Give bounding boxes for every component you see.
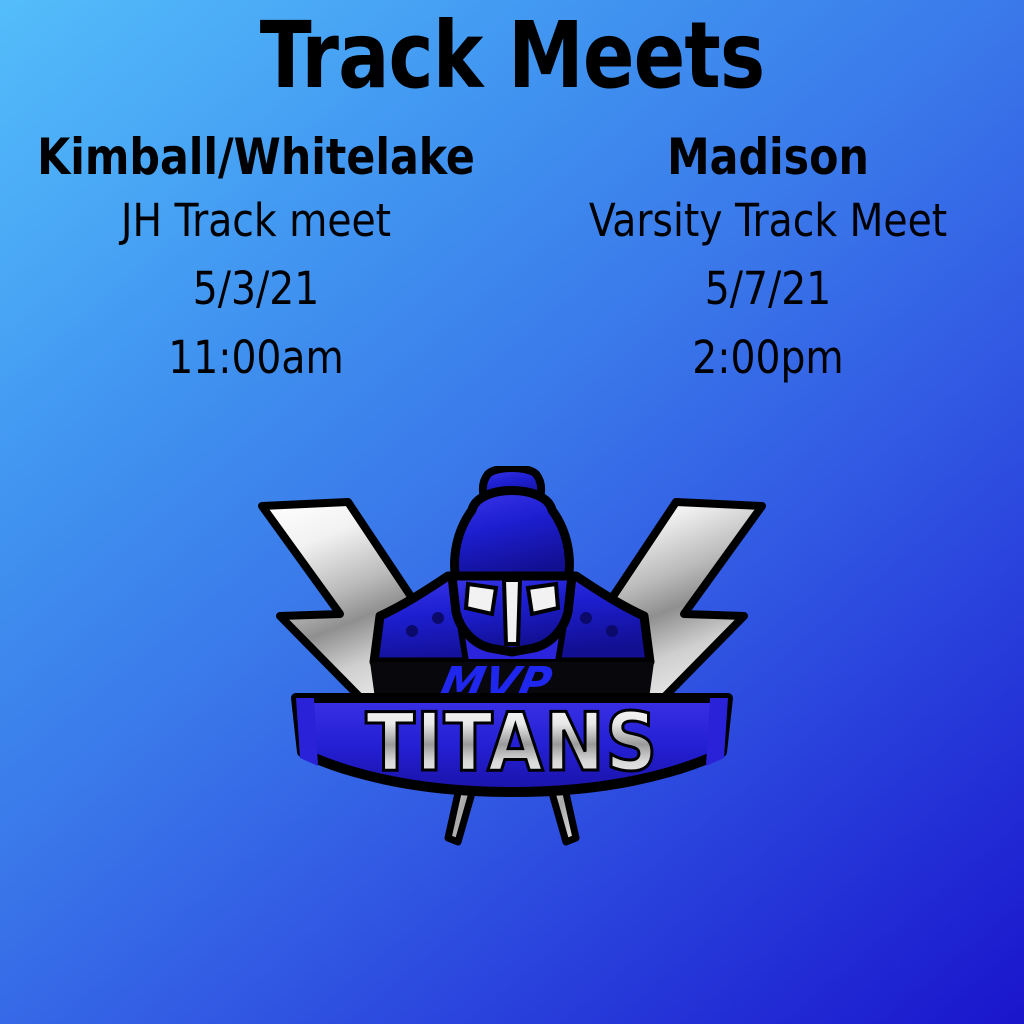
meet-column-madison: Madison Varsity Track Meet 5/7/21 2:00pm	[512, 128, 1024, 392]
meet-event: JH Track meet	[8, 187, 505, 255]
page-title: Track Meets	[41, 8, 983, 105]
mvp-titans-logo-svg: MVP TITANS	[252, 466, 772, 866]
meet-column-kimball-whitelake: Kimball/Whitelake JH Track meet 5/3/21 1…	[0, 128, 512, 392]
meet-columns: Kimball/Whitelake JH Track meet 5/3/21 1…	[0, 128, 1024, 392]
mvp-titans-logo: MVP TITANS	[252, 466, 772, 866]
poster-canvas: Track Meets Kimball/Whitelake JH Track m…	[0, 0, 1024, 1024]
meet-time: 2:00pm	[520, 324, 1017, 392]
meet-venue: Madison	[525, 128, 1011, 187]
meet-date: 5/7/21	[520, 255, 1017, 323]
logo-wordmark-titans: TITANS	[366, 696, 659, 789]
meet-event: Varsity Track Meet	[520, 187, 1017, 255]
spartan-helmet-icon	[452, 468, 572, 652]
meet-venue: Kimball/Whitelake	[13, 128, 499, 187]
meet-date: 5/3/21	[8, 255, 505, 323]
meet-time: 11:00am	[8, 324, 505, 392]
